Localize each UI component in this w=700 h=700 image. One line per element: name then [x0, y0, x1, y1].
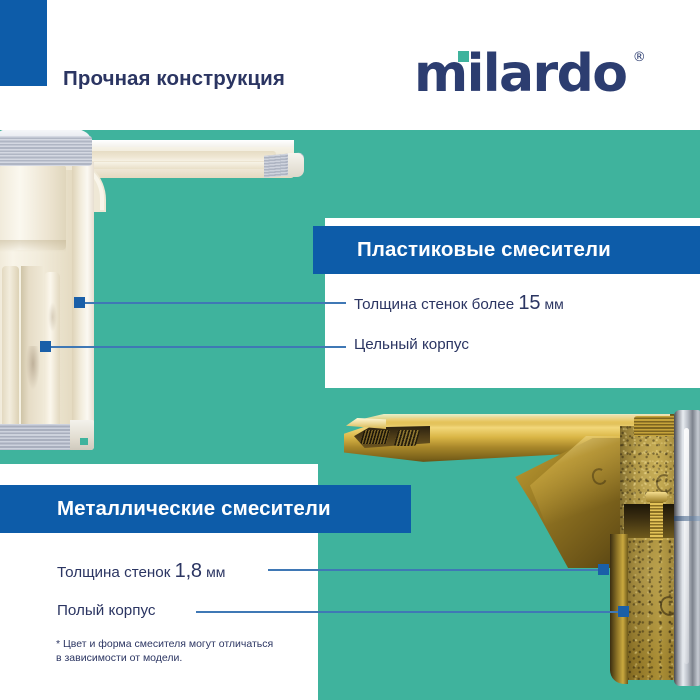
brass-chrome-highlight	[684, 428, 689, 664]
plastic-inner-chamber	[0, 166, 66, 250]
plastic-base-notch	[80, 438, 88, 445]
marker-plastic-solid-body	[40, 341, 51, 352]
plastic-top-collar-threads	[0, 136, 92, 166]
infographic-canvas: Пластиковые смесители Металлические смес…	[0, 0, 700, 700]
leader-line-plastic-solid-body	[46, 346, 346, 348]
footnote-line-1: * Цвет и форма смесителя могут отличатьс…	[56, 637, 306, 651]
footnote-line-2: в зависимости от модели.	[56, 651, 306, 665]
brass-valve-stem-cap	[646, 492, 667, 502]
brand-logo-i-dot	[458, 51, 469, 62]
banner-plastic-faucets: Пластиковые смесители	[313, 226, 700, 274]
banner-metal-faucets: Металлические смесители	[0, 485, 411, 533]
plastic-surface-smudge	[26, 346, 40, 390]
callout-metal-hollow-body: Полый корпус	[57, 602, 155, 619]
registered-trademark-icon: ®	[633, 50, 646, 65]
page-title: Прочная конструкция	[63, 67, 285, 91]
banner-plastic-label: Пластиковые смесители	[357, 238, 611, 262]
callout-plastic-wall-thickness-unit: мм	[545, 296, 564, 312]
callout-plastic-solid-body: Цельный корпус	[354, 336, 469, 353]
callout-plastic-wall-thickness: Толщина стенок более 15 мм	[354, 292, 564, 315]
marker-metal-wall-thickness	[598, 564, 609, 575]
brass-aerator-threads	[360, 430, 390, 444]
corner-accent-block	[0, 0, 47, 86]
brass-faucet-cross-section	[338, 408, 700, 690]
callout-metal-wall-thickness: Толщина стенок 1,8 мм	[57, 560, 225, 583]
plastic-inner-rib-right	[44, 272, 60, 432]
plastic-inner-rib-left	[2, 266, 19, 432]
callout-plastic-wall-thickness-prefix: Толщина стенок более	[354, 296, 514, 313]
banner-metal-label: Металлические смесители	[57, 497, 331, 521]
plastic-spout-inner-bore-lower	[70, 162, 276, 169]
callout-plastic-wall-thickness-value: 15	[518, 292, 540, 314]
leader-line-metal-wall-thickness	[268, 569, 606, 571]
callout-metal-wall-thickness-value: 1,8	[175, 560, 202, 582]
callout-metal-hollow-body-label: Полый корпус	[57, 602, 155, 619]
plastic-inner-chamber-shadow	[0, 240, 66, 252]
callout-metal-wall-thickness-unit: мм	[206, 564, 225, 580]
plastic-surface-smudge-secondary	[48, 302, 57, 332]
brand-logo: milardo ®	[414, 48, 646, 100]
brass-valve-stem	[650, 500, 663, 544]
leader-line-metal-hollow-body	[196, 611, 626, 613]
marker-plastic-wall-thickness	[74, 297, 85, 308]
plastic-spout-outlet-cap	[288, 153, 304, 177]
callout-metal-wall-thickness-prefix: Толщина стенок	[57, 564, 170, 581]
leader-line-plastic-wall-thickness	[80, 302, 346, 304]
brand-logo-wordmark: milardo	[414, 48, 626, 100]
brass-chrome-reflection-band	[674, 516, 700, 521]
footnote: * Цвет и форма смесителя могут отличатьс…	[56, 637, 306, 665]
marker-metal-hollow-body	[618, 606, 629, 617]
brass-aerator-threads-secondary	[394, 430, 421, 446]
plastic-base-cap	[70, 420, 94, 450]
plastic-faucet-cross-section	[0, 140, 304, 450]
callout-plastic-solid-body-label: Цельный корпус	[354, 336, 469, 353]
